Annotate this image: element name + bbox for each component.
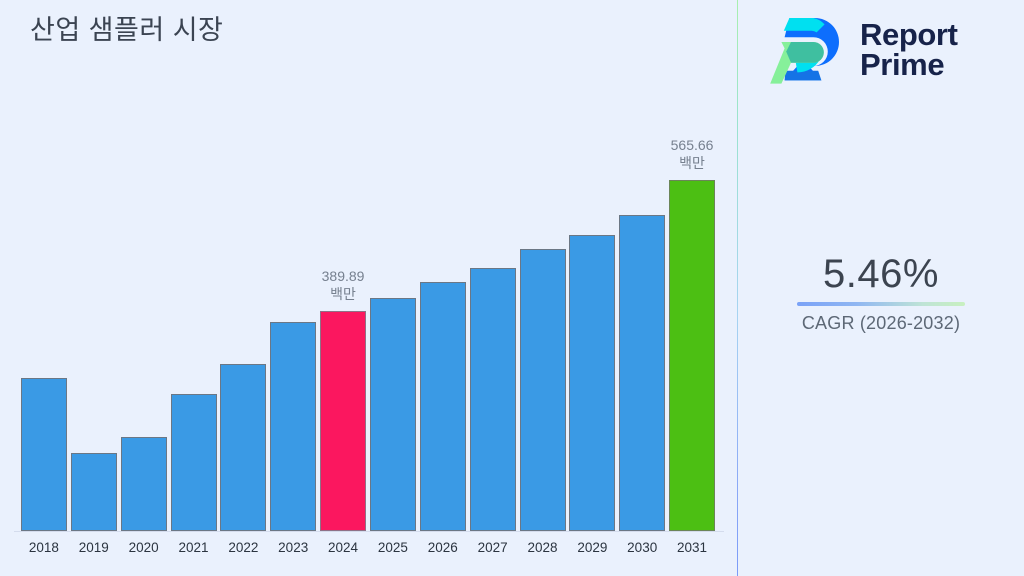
bar-2027 xyxy=(470,268,516,531)
brand-logo: Report Prime xyxy=(766,10,958,90)
bar-2028 xyxy=(520,249,566,531)
cagr-block: 5.46% CAGR (2026-2032) xyxy=(738,252,1024,334)
x-axis-line xyxy=(14,531,724,532)
brand-name-line2: Prime xyxy=(860,50,958,80)
bar-2021 xyxy=(171,394,217,531)
bar-2019 xyxy=(71,453,117,531)
side-panel: Report Prime 5.46% CAGR (2026-2032) xyxy=(738,0,1024,576)
bar-2025 xyxy=(370,298,416,531)
bar-2030 xyxy=(619,215,665,531)
brand-name: Report Prime xyxy=(860,20,958,81)
report-prime-logo-icon xyxy=(766,10,848,90)
bar-2018 xyxy=(21,378,67,531)
bar-2022 xyxy=(220,364,266,531)
bar-2031 xyxy=(669,180,715,531)
cagr-value: 5.46% xyxy=(738,252,1024,296)
x-axis-labels: 2018201920202021202220232024202520262027… xyxy=(19,540,717,570)
bar-2029 xyxy=(569,235,615,531)
bars-container xyxy=(19,0,717,531)
chart-panel: 산업 샘플러 시장 201820192020202120222023202420… xyxy=(0,0,738,576)
cagr-divider-rule xyxy=(797,302,965,306)
cagr-caption: CAGR (2026-2032) xyxy=(738,313,1024,334)
bar-chart-plot: 2018201920202021202220232024202520262027… xyxy=(0,0,738,576)
brand-name-line1: Report xyxy=(860,20,958,50)
bar-2024 xyxy=(320,311,366,531)
bar-2023 xyxy=(270,322,316,531)
infographic-root: 산업 샘플러 시장 201820192020202120222023202420… xyxy=(0,0,1024,576)
bar-2020 xyxy=(121,437,167,531)
bar-2026 xyxy=(420,282,466,531)
x-axis-label-2031: 2031 xyxy=(662,540,722,555)
